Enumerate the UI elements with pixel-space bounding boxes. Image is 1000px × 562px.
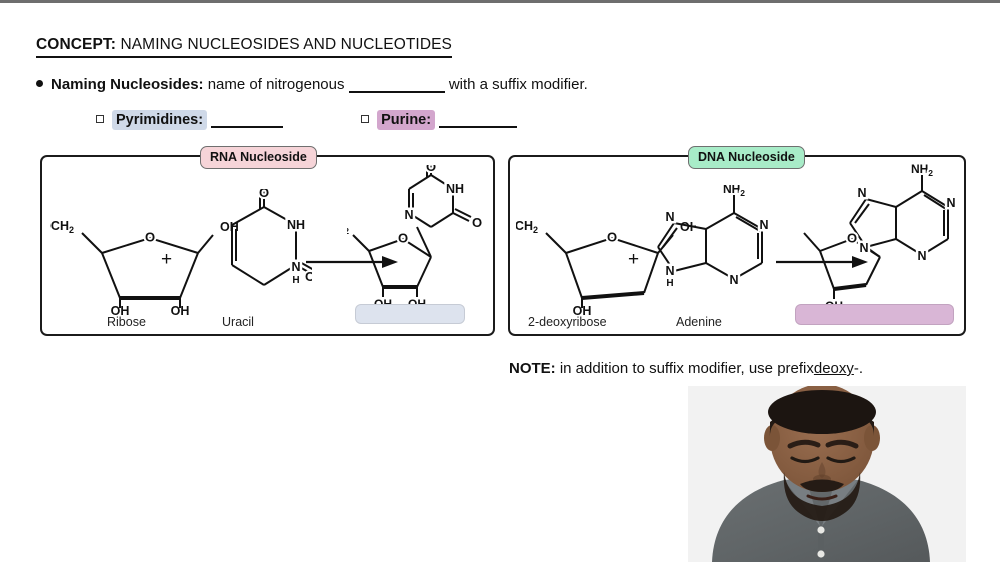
svg-text:O: O [259,189,269,200]
structure-deoxyadenosine: O HOCH2 NH2 N N N N OH [800,163,972,313]
note-label: NOTE: [509,360,556,377]
svg-text:HOCH2: HOCH2 [516,219,538,235]
svg-text:N: N [857,186,866,200]
label-2-deoxyribose: 2-deoxyribose [528,315,607,329]
svg-text:N: N [946,196,955,210]
answer-blank-rna-product[interactable] [355,304,465,324]
structure-adenine: NH2 N N N N H [650,185,780,320]
bullet-naming-nucleosides: Naming Nucleosides: name of nitrogenous … [36,76,588,93]
note-tail: -. [854,360,863,377]
subitem-purine-blank[interactable] [439,113,517,128]
label-adenine: Adenine [676,315,722,329]
badge-dna-nucleoside: DNA Nucleoside [688,146,805,169]
bullet-text-before: name of nitrogenous [208,76,345,93]
svg-text:OH: OH [111,304,130,315]
svg-text:NH: NH [446,182,464,196]
bullet-text-after: with a suffix modifier. [449,76,588,93]
bullet-label: Naming Nucleosides: [51,76,204,93]
label-uracil: Uracil [222,315,254,329]
structure-uracil: O NH O N H [192,189,312,319]
svg-text:N: N [404,208,413,222]
svg-text:HOCH2: HOCH2 [50,219,74,235]
answer-blank-dna-product[interactable] [795,304,954,325]
subitem-row: Pyrimidines: Purine: [96,112,517,128]
subitem-purine-label: Purine: [377,110,435,130]
concept-title-text: NAMING NUCLEOSIDES AND NUCLEOTIDES [120,36,452,53]
svg-text:H: H [292,275,299,286]
subitem-pyrimidines-label: Pyrimidines: [112,110,207,130]
subitem-pyrimidines-blank[interactable] [211,113,283,128]
page-title: CONCEPT: NAMING NUCLEOSIDES AND NUCLEOTI… [36,36,452,58]
svg-text:O: O [426,165,436,174]
operator-plus: + [161,249,172,271]
svg-text:O: O [607,229,617,244]
instructor-figure [688,386,966,562]
badge-rna-nucleoside: RNA Nucleoside [200,146,317,169]
svg-text:O: O [145,229,155,244]
checkbox-icon[interactable] [96,115,104,123]
concept-label: CONCEPT: [36,36,116,53]
svg-text:N: N [729,273,738,287]
note-text: in addition to suffix modifier, use pref… [560,360,814,377]
svg-text:N: N [759,218,768,232]
svg-text:H: H [666,278,673,289]
note-underlined-term: deoxy [814,360,854,377]
instructor-video-overlay[interactable] [688,386,966,562]
svg-text:O: O [472,215,482,230]
svg-text:N: N [665,264,674,278]
svg-text:O: O [398,230,408,245]
note-line: NOTE: in addition to suffix modifier, us… [509,360,863,377]
subitem-purine[interactable]: Purine: [361,112,517,128]
panel-rna-nucleoside: RNA Nucleoside O HOCH2 OH OH OH Ribose + [40,155,495,336]
slide-canvas: CONCEPT: NAMING NUCLEOSIDES AND NUCLEOTI… [0,0,1000,562]
svg-text:N: N [665,210,674,224]
svg-text:NH2: NH2 [911,163,933,178]
label-ribose: Ribose [107,315,146,329]
checkbox-icon[interactable] [361,115,369,123]
svg-text:NH: NH [287,218,305,232]
panel-dna-nucleoside: DNA Nucleoside O HOCH2 OH OH 2-deoxyribo… [508,155,966,336]
svg-text:N: N [917,249,926,263]
bullet-dot-icon [36,80,43,87]
svg-text:N: N [291,260,300,274]
bullet-fill-blank[interactable] [349,78,445,93]
svg-text:N: N [859,241,868,255]
structure-uridine: O HOCH2 N O NH O OH OH [347,165,492,315]
subitem-pyrimidines[interactable]: Pyrimidines: [96,112,283,128]
operator-plus: + [628,249,639,271]
svg-text:OH: OH [171,304,190,315]
svg-text:HOCH2: HOCH2 [347,220,349,236]
svg-text:O: O [847,230,857,245]
top-divider [0,0,1000,3]
svg-text:OH: OH [573,304,592,315]
